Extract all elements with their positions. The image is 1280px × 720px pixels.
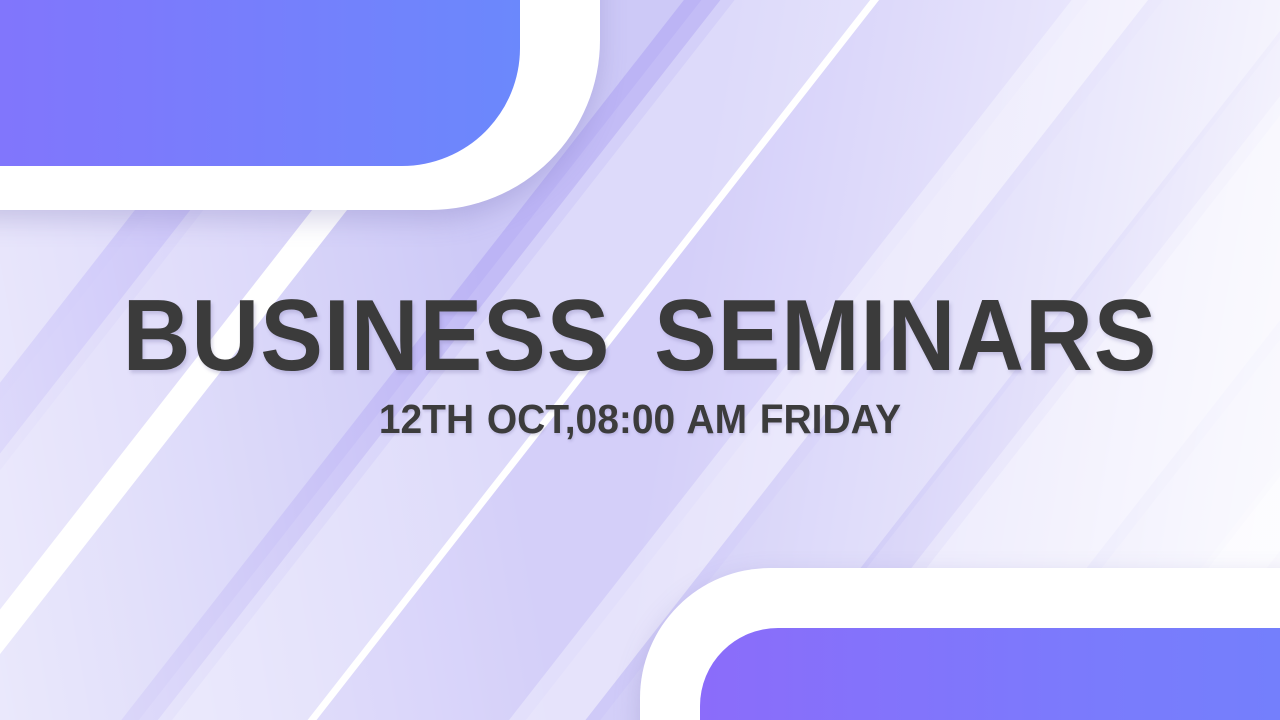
event-poster: BUSINESS SEMINARS 12TH OCT,08:00 AM FRID… (0, 0, 1280, 720)
bottom-right-gradient-block (700, 628, 1280, 720)
top-left-gradient-block (0, 0, 520, 166)
poster-text-block: BUSINESS SEMINARS 12TH OCT,08:00 AM FRID… (0, 286, 1280, 440)
event-datetime: 12TH OCT,08:00 AM FRIDAY (32, 399, 1248, 440)
event-title: BUSINESS SEMINARS (45, 286, 1235, 387)
